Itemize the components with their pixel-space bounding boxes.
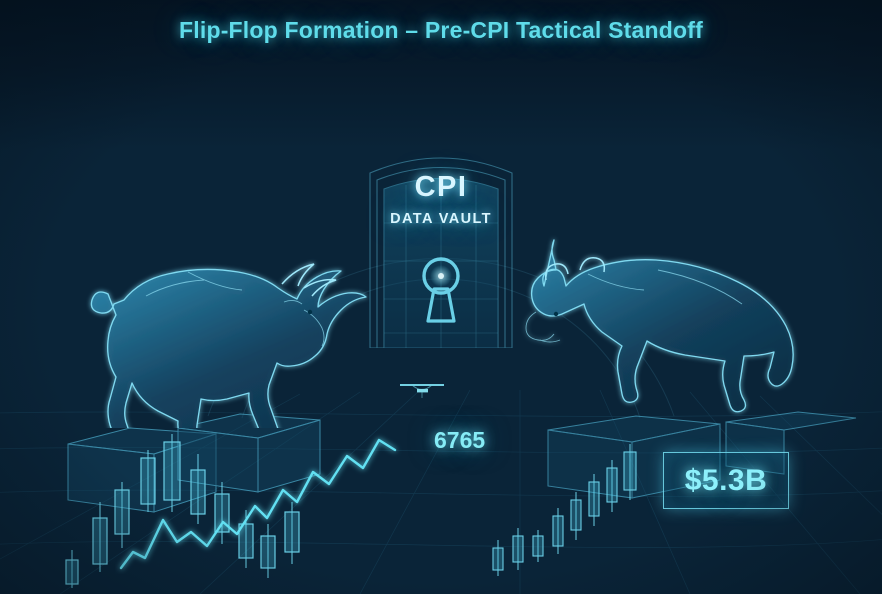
charging-bull-icon xyxy=(68,232,386,428)
page-title: Flip-Flop Formation – Pre-CPI Tactical S… xyxy=(0,17,882,44)
vault-label-group: CPI DATA VAULT xyxy=(358,173,524,227)
vault-heading: CPI xyxy=(358,173,524,202)
trend-line-chart xyxy=(115,424,445,574)
drone-icon xyxy=(398,377,446,399)
scene-canvas: CPI DATA VAULT xyxy=(0,0,882,594)
vault-subheading: DATA VAULT xyxy=(358,211,524,227)
price-label: 6765 xyxy=(434,427,485,454)
candlestick-chart-right xyxy=(488,430,668,594)
value-badge[interactable]: $5.3B xyxy=(663,452,789,509)
walking-bear-icon xyxy=(518,234,818,424)
value-badge-text: $5.3B xyxy=(685,464,768,498)
